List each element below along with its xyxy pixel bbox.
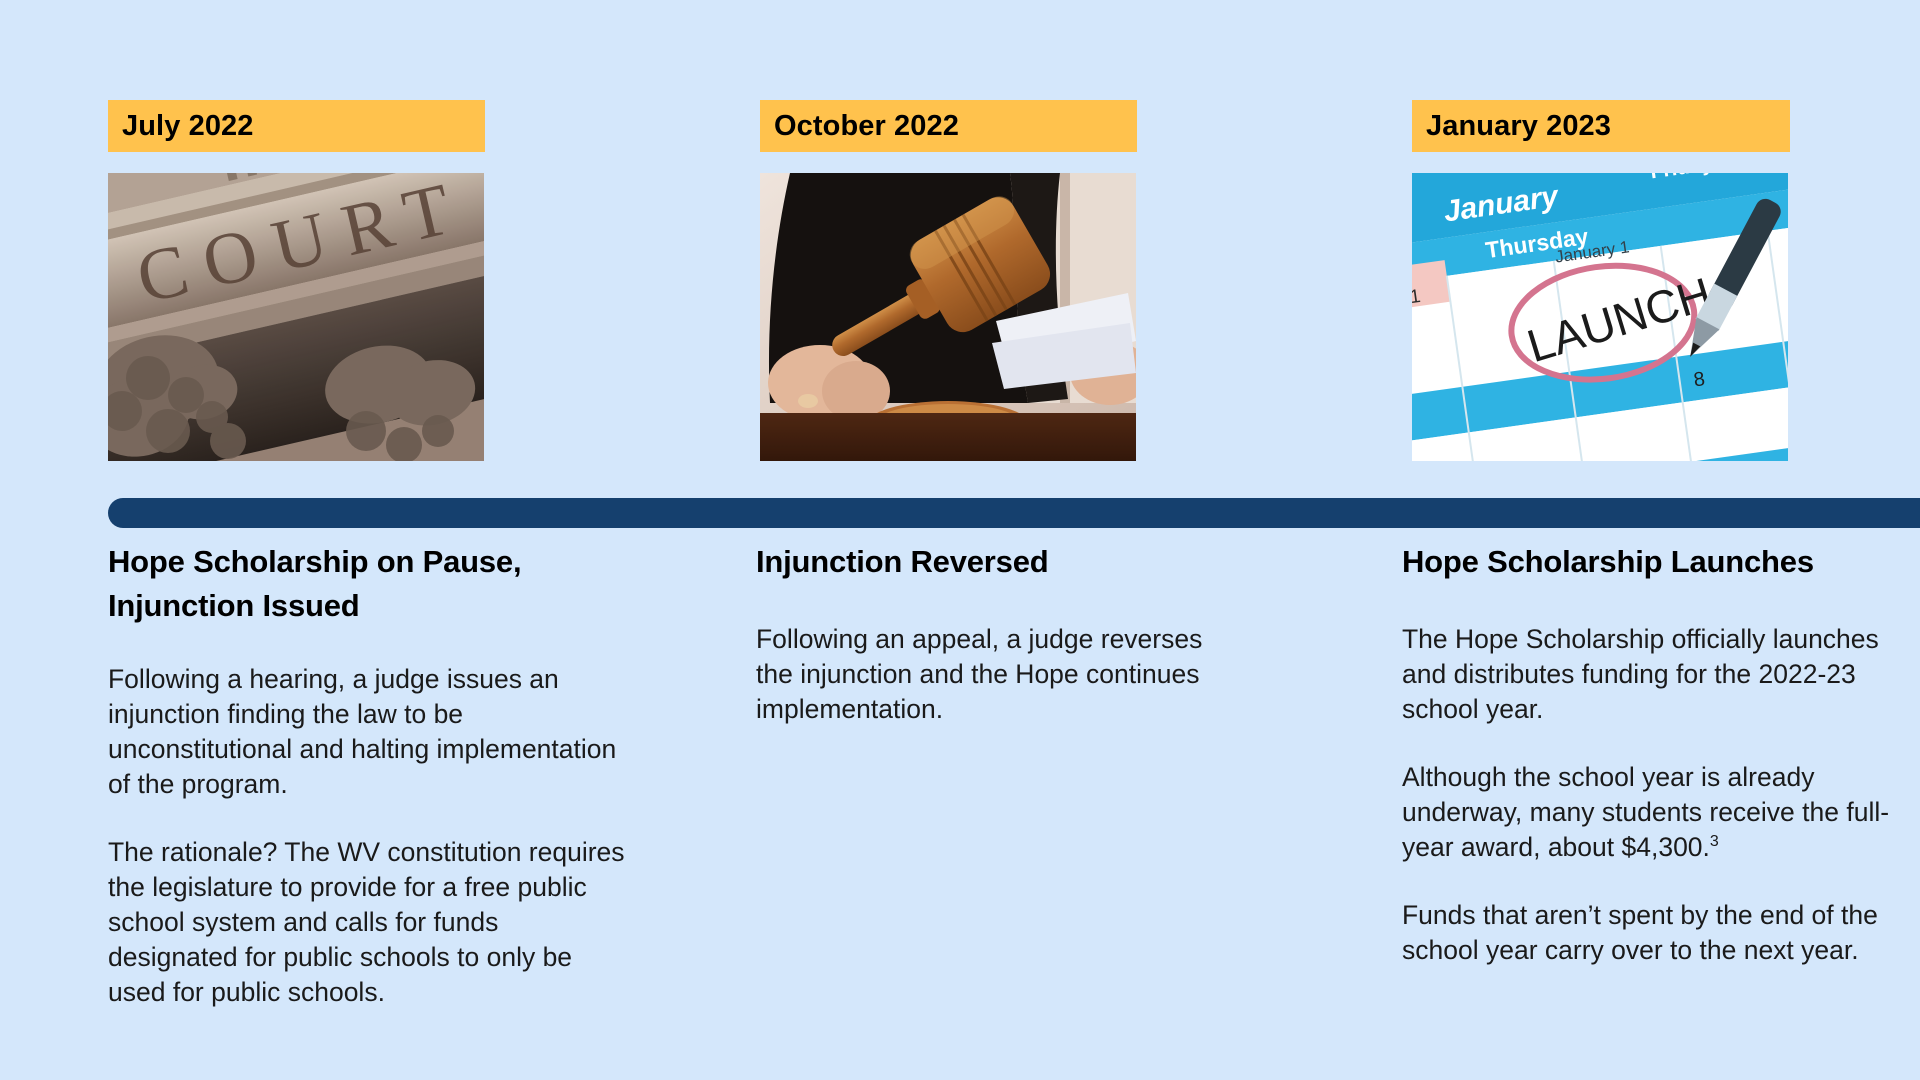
calendar-launch-illustration: January Friday 2 Thursday January 1 31 8… — [1412, 173, 1788, 461]
footnote-marker-3: 3 — [1710, 833, 1719, 850]
milestone-column-3: January 2023 January Friday — [1412, 0, 1920, 461]
milestone-detail-3: Hope Scholarship Launches The Hope Schol… — [1402, 540, 1902, 968]
milestone-heading-2: Injunction Reversed — [756, 540, 1236, 584]
milestone-detail-1: Hope Scholarship on Pause, Injunction Is… — [108, 540, 628, 1010]
gavel-photo — [760, 173, 1136, 461]
calendar-launch-photo: January Friday 2 Thursday January 1 31 8… — [1412, 173, 1788, 461]
date-badge-july-2022: July 2022 — [108, 100, 485, 152]
milestone-paragraph-3-1: The Hope Scholarship officially launches… — [1402, 622, 1902, 727]
courthouse-photo-illustration: COURT — [108, 173, 484, 461]
milestone-heading-3: Hope Scholarship Launches — [1402, 540, 1902, 584]
milestone-paragraph-1-1: Following a hearing, a judge issues an i… — [108, 662, 628, 802]
milestone-paragraph-1-2: The rationale? The WV constitution requi… — [108, 835, 628, 1010]
milestone-paragraph-3-3: Funds that aren’t spent by the end of th… — [1402, 898, 1902, 968]
milestone-paragraph-2-1: Following an appeal, a judge reverses th… — [756, 622, 1236, 727]
timeline-bar — [108, 498, 1920, 528]
milestone-paragraph-3-2: Although the school year is already unde… — [1402, 760, 1902, 865]
date-badge-october-2022: October 2022 — [760, 100, 1137, 152]
milestone-column-2: October 2022 — [760, 0, 1300, 461]
date-badge-january-2023: January 2023 — [1412, 100, 1790, 152]
milestone-detail-2: Injunction Reversed Following an appeal,… — [756, 540, 1236, 727]
milestone-paragraph-3-2-text: Although the school year is already unde… — [1402, 762, 1889, 862]
courthouse-photo: COURT — [108, 173, 484, 461]
timeline-top-row: July 2022 — [0, 0, 1920, 500]
milestone-heading-1: Hope Scholarship on Pause, Injunction Is… — [108, 540, 628, 628]
gavel-photo-illustration — [760, 173, 1136, 461]
milestone-column-1: July 2022 — [108, 0, 648, 461]
